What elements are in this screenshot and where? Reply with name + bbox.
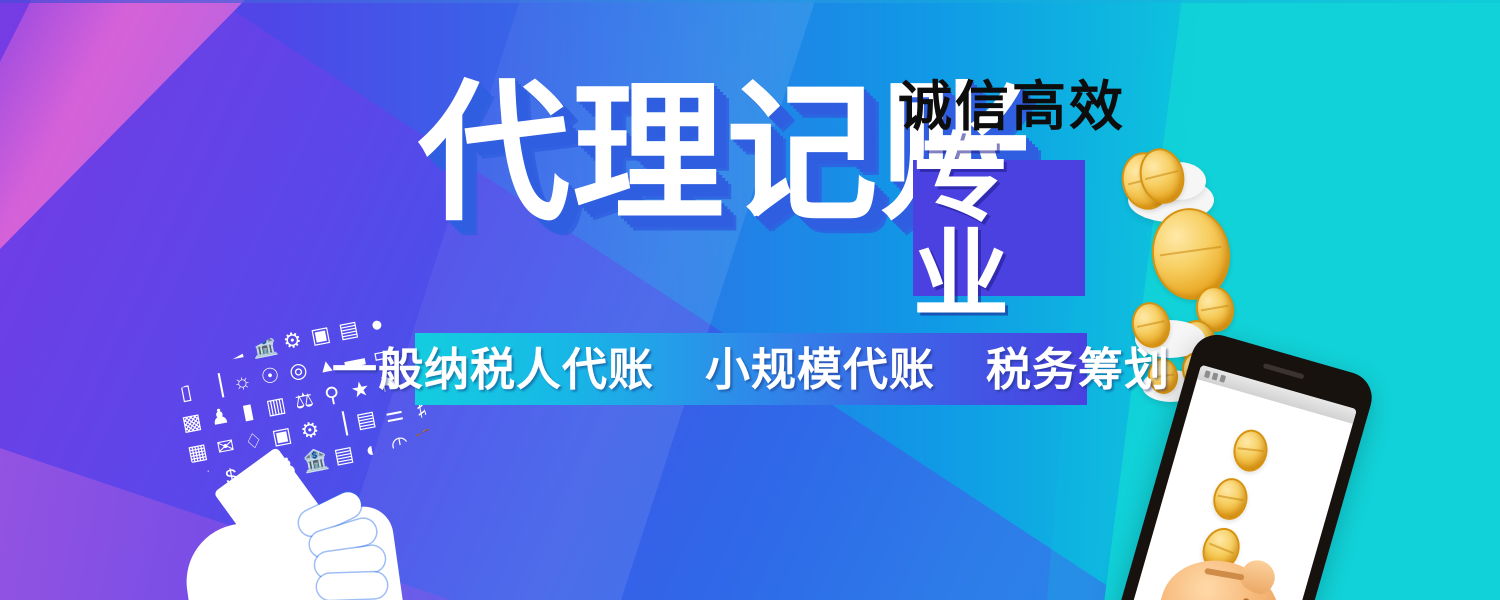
signal-icon [1204, 370, 1211, 378]
clipboard-icon: ▦ [421, 301, 444, 325]
target-icon: ◎ [287, 358, 309, 382]
camera-icon: ▣ [270, 423, 293, 447]
pie-chart-icon: ◐ [364, 438, 380, 461]
phone-speaker [1263, 363, 1305, 379]
ladder-icon: ⚌ [383, 402, 405, 426]
receipt-icon: ▥ [264, 393, 287, 417]
water-drop-icon: ♢ [243, 429, 265, 453]
status-badge: 专业 [913, 132, 1085, 324]
stats-icon: ▕ [328, 413, 348, 436]
service-item-general-taxpayer: 一般纳税人代账 [332, 344, 654, 395]
coin-icon: ● [368, 312, 384, 335]
clock-icon: ◷ [389, 432, 411, 456]
monitor-icon: ▯ [178, 381, 193, 404]
scale-icon: ⚖ [293, 388, 315, 412]
phone-status-bar [1197, 365, 1357, 424]
mail-icon: ✉ [215, 434, 236, 458]
hand-finger [317, 572, 388, 600]
hand-illustration [185, 495, 400, 600]
bank-icon: 🏦 [250, 333, 279, 358]
phone-illustration [1140, 330, 1440, 600]
handshake-icon: ☼ [231, 369, 254, 393]
megaphone-cone: $ ░ 💼 ♟ 🏦 ⚙ ▣ ▤ ● ✆ ▦ ◐ ▯ ▕ ☼ ☉ ◎ ▴ ▬ ▭ [175, 285, 433, 515]
safe-icon: ▤ [354, 407, 377, 431]
banner-root: $ ░ 💼 ♟ 🏦 ⚙ ▣ ▤ ● ✆ ▦ ◐ ▯ ▕ ☼ ☉ ◎ ▴ ▬ ▭ [0, 0, 1500, 600]
piggy-coin-slot [1204, 568, 1244, 581]
background-top-edge-line [0, 0, 1500, 3]
building-icon: ▩ [180, 410, 203, 434]
card-icon: ▮ [240, 400, 255, 423]
gear-icon: ⚙ [281, 328, 303, 352]
services-bar: 一般纳税人代账 小规模代账 税务筹划 [415, 333, 1087, 405]
services-list: 一般纳税人代账 小规模代账 税务筹划 [332, 347, 1170, 392]
calculator-icon: ▣ [309, 323, 332, 347]
person-icon: ♟ [225, 339, 247, 363]
stats-icon: ▕ [446, 421, 466, 444]
phone-icon: ✆ [394, 306, 415, 330]
calendar-icon: ▦ [186, 440, 209, 464]
professional-badge: 专业 [913, 160, 1085, 296]
document-icon: ▤ [337, 317, 360, 341]
briefcase-icon: 💼 [413, 425, 442, 450]
gold-coin [1231, 428, 1269, 473]
user-group-icon: ♟ [209, 404, 231, 428]
service-item-small-scale: 小规模代账 [705, 344, 935, 395]
bank-icon: 🏦 [301, 447, 330, 472]
service-item-tax-planning: 税务筹划 [986, 344, 1170, 395]
tools-icon: ⚙ [299, 418, 321, 442]
briefcase-icon: 💼 [193, 344, 222, 369]
phone-screen [1122, 365, 1357, 600]
battery-icon [1219, 375, 1226, 383]
lightbulb-icon: ☉ [259, 364, 281, 388]
chart-bar-icon: ░ [194, 470, 212, 493]
wifi-icon [1212, 372, 1219, 380]
factory-icon: ▕ [204, 375, 224, 398]
document-icon: ▤ [332, 442, 355, 466]
gold-coin [1210, 475, 1251, 522]
